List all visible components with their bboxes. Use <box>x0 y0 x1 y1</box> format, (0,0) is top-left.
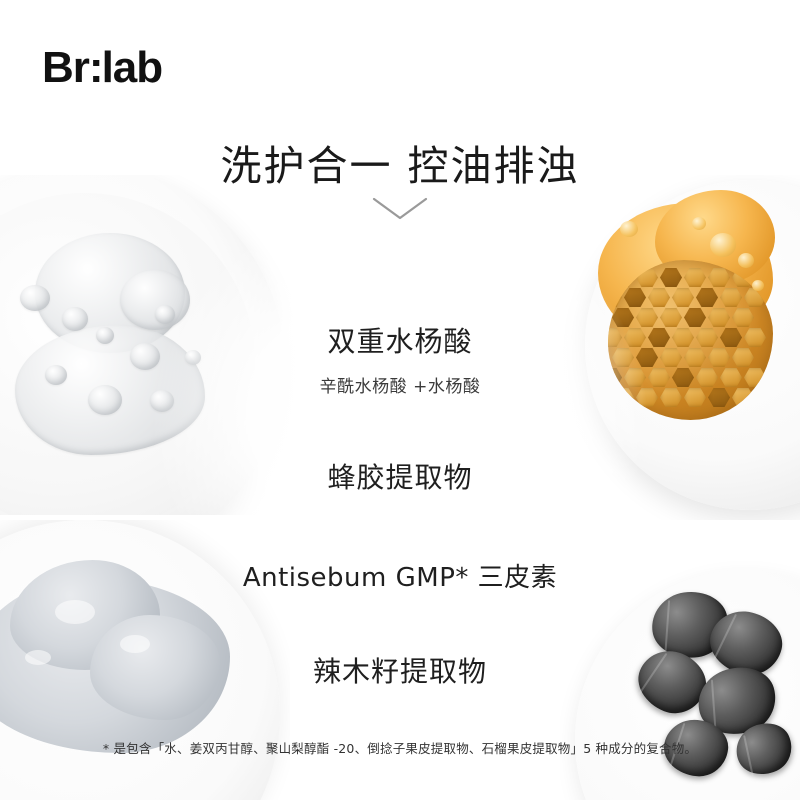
ingredient-2-title: 蜂胶提取物 <box>0 456 800 496</box>
headline: 洗护合一 控油排浊 <box>0 132 800 192</box>
promo-image-root: Br:lab 洗护合一 控油排浊 双重水杨酸 辛酰水杨酸 +水杨酸 蜂胶提取物 … <box>0 0 800 800</box>
brand-logo: Br:lab <box>42 46 162 90</box>
footnote: * 是包含「水、姜双丙甘醇、聚山梨醇酯 -20、倒捻子果皮提取物、石榴果皮提取物… <box>0 738 800 757</box>
ingredient-4-title: 辣木籽提取物 <box>0 650 800 690</box>
ingredient-3-title: Antisebum GMP* 三皮素 <box>0 557 800 594</box>
ingredient-1-subtitle: 辛酰水杨酸 +水杨酸 <box>0 372 800 397</box>
ingredient-1-title: 双重水杨酸 <box>0 320 800 360</box>
brand-name-right: lab <box>102 43 163 92</box>
chevron-down-icon <box>371 196 429 227</box>
brand-separator: : <box>89 43 102 92</box>
brand-name-left: Br <box>42 43 89 92</box>
